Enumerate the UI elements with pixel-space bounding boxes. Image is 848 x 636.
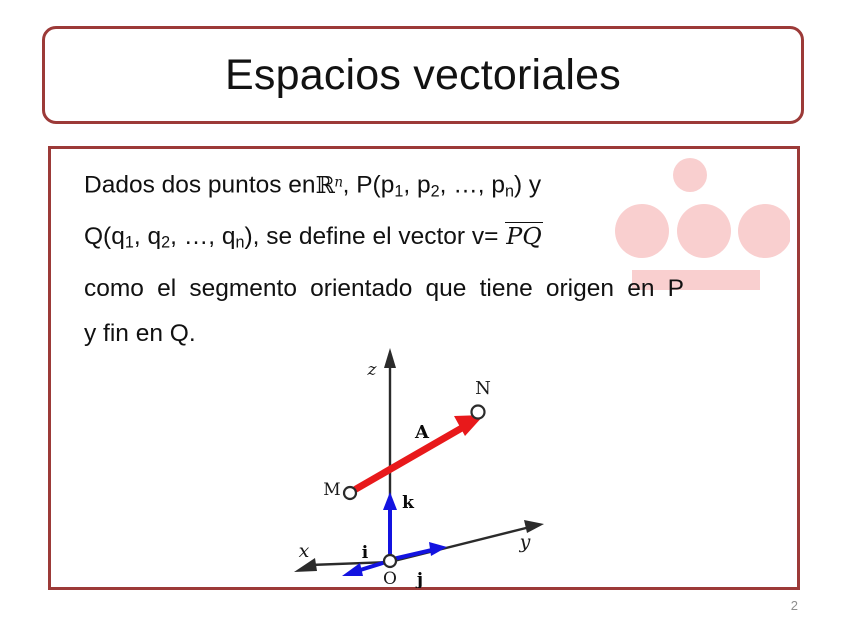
- body-line-1-sub-3: n: [505, 182, 514, 200]
- point-n-marker: [472, 406, 485, 419]
- slide-page-number: 2: [791, 598, 798, 613]
- body-line-1-sub-1: 1: [394, 182, 403, 200]
- vector-a-label: A: [414, 422, 430, 443]
- axis-z-label: z: [367, 360, 378, 380]
- body-line-1-part-e: ) y: [514, 172, 541, 199]
- unit-vector-j: [393, 542, 447, 559]
- body-line-2-part-b: , q: [134, 223, 161, 250]
- body-line-1-part-b: , P(p: [343, 172, 395, 199]
- body-line-1: Dados dos puntos enℝn, P(p1, p2, …, pn) …: [84, 160, 684, 214]
- slide-canvas: Espacios vectoriales Dados dos puntos en…: [0, 0, 848, 636]
- body-line-1-part-a: Dados dos puntos en: [84, 172, 316, 199]
- body-text-block: Dados dos puntos enℝn, P(p1, p2, …, pn) …: [84, 160, 684, 356]
- body-line-2-sub-1: 1: [125, 234, 134, 252]
- axis-x-label: x: [299, 540, 310, 562]
- point-m-label: M: [323, 480, 340, 500]
- unit-vector-k: [383, 492, 397, 558]
- body-line-1-part-d: , …, p: [440, 172, 505, 199]
- unit-vector-j-label: j: [415, 570, 423, 588]
- body-line-3: como el segmento orientado que tiene ori…: [84, 266, 684, 311]
- body-line-2-sub-2: 2: [161, 234, 170, 252]
- real-numbers-exponent: n: [334, 174, 342, 190]
- body-line-2-part-d: ), se define el vector v=: [244, 223, 498, 250]
- axis-y-label: y: [519, 531, 531, 553]
- origin-point-marker: [384, 555, 396, 567]
- body-line-4: y fin en Q.: [84, 311, 684, 356]
- body-line-2-part-c: , …, q: [170, 223, 235, 250]
- point-n-label: N: [475, 378, 491, 399]
- vector-pq-notation: PQ: [505, 222, 542, 249]
- slide-title-box: Espacios vectoriales: [42, 26, 804, 124]
- unit-vector-i-label: i: [362, 543, 369, 563]
- origin-label: O: [383, 569, 397, 588]
- real-numbers-glyph: ℝ: [316, 172, 335, 199]
- vector-3d-axes-diagram: z x y O i j k M N A: [272, 330, 602, 588]
- body-line-2: Q(q1, q2, …, qn), se define el vector v=…: [84, 214, 684, 266]
- body-line-1-part-c: , p: [403, 172, 430, 199]
- point-m-marker: [344, 487, 356, 499]
- body-line-1-sub-2: 2: [431, 182, 440, 200]
- body-line-2-part-a: Q(q: [84, 223, 125, 250]
- unit-vector-k-label: k: [402, 493, 415, 513]
- real-numbers-symbol: ℝn: [316, 172, 343, 199]
- page-title: Espacios vectoriales: [225, 54, 621, 97]
